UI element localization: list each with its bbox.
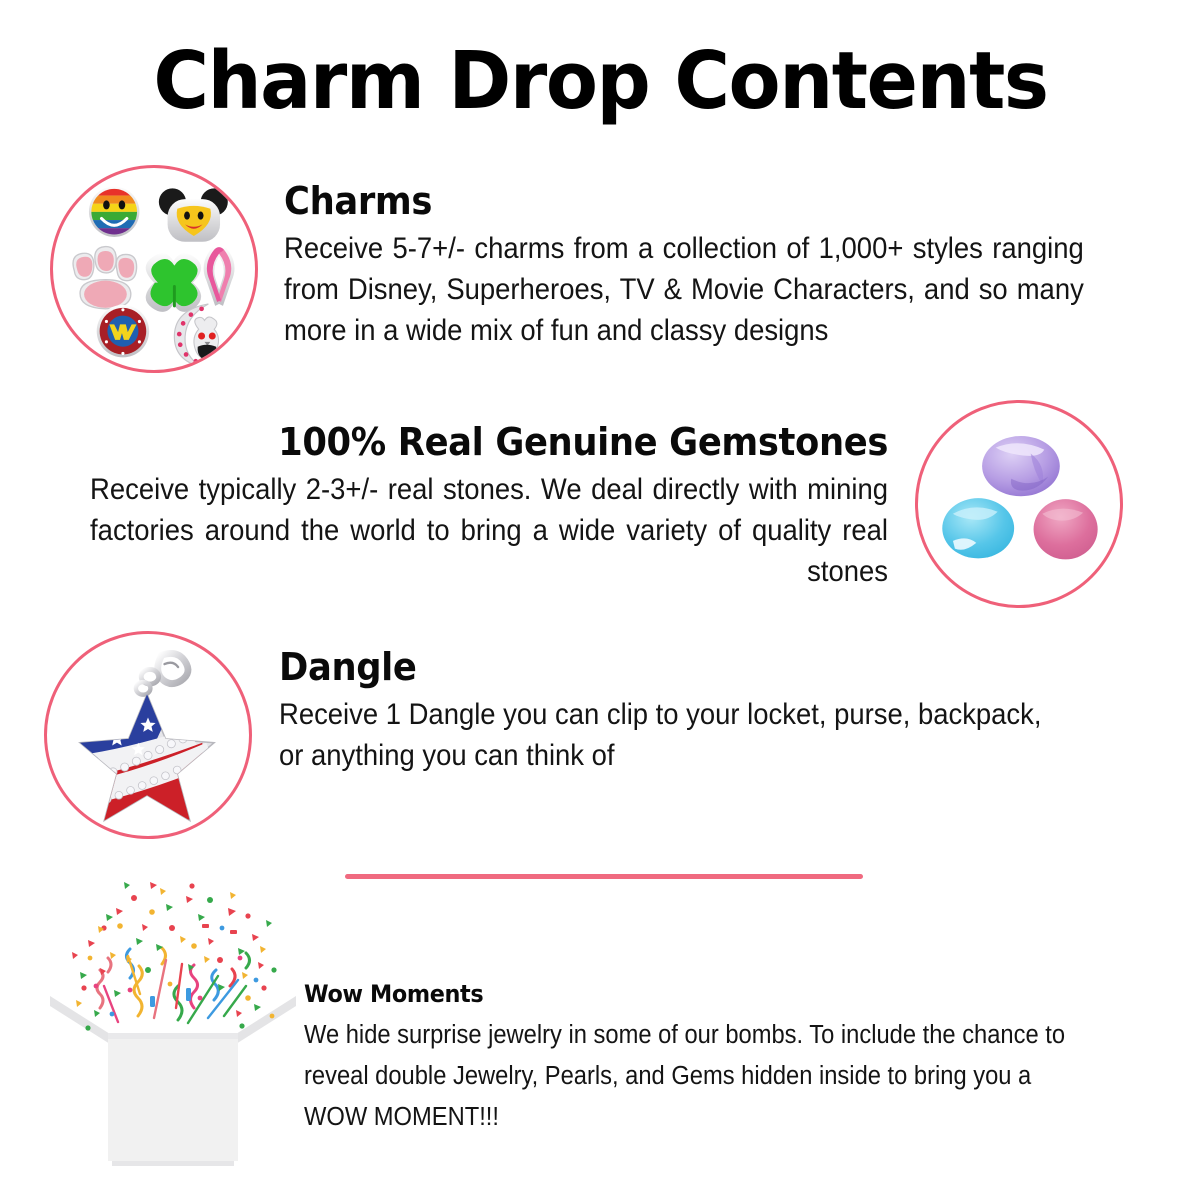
paw-print-charm bbox=[73, 247, 137, 309]
wow-moments-text-block: Wow Moments We hide surprise jewelry in … bbox=[304, 978, 1124, 1138]
charms-heading: Charms bbox=[284, 178, 1084, 224]
dangle-medallion bbox=[44, 631, 252, 839]
infographic-page: Charm Drop Contents bbox=[0, 0, 1201, 1201]
gemstones-text-block: 100% Real Genuine Gemstones Receive typi… bbox=[30, 418, 888, 592]
patriotic-star-dangle bbox=[66, 683, 214, 829]
gift-box-body bbox=[108, 1033, 238, 1166]
four-leaf-clover-charm bbox=[146, 253, 201, 312]
gemstones-body: Receive typically 2-3+/- real stones. We… bbox=[90, 469, 888, 592]
page-title: Charm Drop Contents bbox=[24, 42, 1177, 121]
dangle-heading: Dangle bbox=[279, 643, 1042, 691]
owl-moon-charm bbox=[174, 304, 218, 367]
pink-ribbon-charm bbox=[204, 247, 235, 306]
section-divider bbox=[345, 874, 863, 879]
dangle-body: Receive 1 Dangle you can clip to your lo… bbox=[279, 694, 1042, 776]
rainbow-smiley-charm bbox=[89, 186, 140, 237]
wow-moments-body: We hide surprise jewelry in some of our … bbox=[304, 1015, 1067, 1138]
charms-text-block: Charms Receive 5-7+/- charms from a coll… bbox=[284, 178, 1144, 351]
confetti-box-illustration bbox=[42, 868, 304, 1170]
wow-moments-heading: Wow Moments bbox=[304, 978, 1067, 1010]
jump-ring bbox=[136, 669, 159, 694]
lobster-clasp-icon bbox=[158, 653, 188, 683]
charms-medallion bbox=[50, 165, 258, 373]
gemstones-artwork bbox=[918, 403, 1120, 605]
amethyst-gemstone bbox=[982, 436, 1060, 496]
pink-sapphire-gemstone bbox=[1034, 499, 1098, 559]
wonder-woman-charm bbox=[97, 305, 149, 357]
gemstones-heading: 100% Real Genuine Gemstones bbox=[90, 418, 888, 466]
dangle-artwork bbox=[47, 634, 249, 836]
confetti-box-artwork bbox=[42, 868, 304, 1170]
mickey-mouse-charm bbox=[159, 188, 228, 241]
charms-body: Receive 5-7+/- charms from a collection … bbox=[284, 228, 1084, 351]
gemstones-medallion bbox=[915, 400, 1123, 608]
dangle-text-block: Dangle Receive 1 Dangle you can clip to … bbox=[279, 643, 1099, 776]
confetti-burst bbox=[72, 882, 277, 1031]
blue-topaz-gemstone bbox=[942, 498, 1014, 558]
charms-artwork bbox=[53, 168, 255, 370]
